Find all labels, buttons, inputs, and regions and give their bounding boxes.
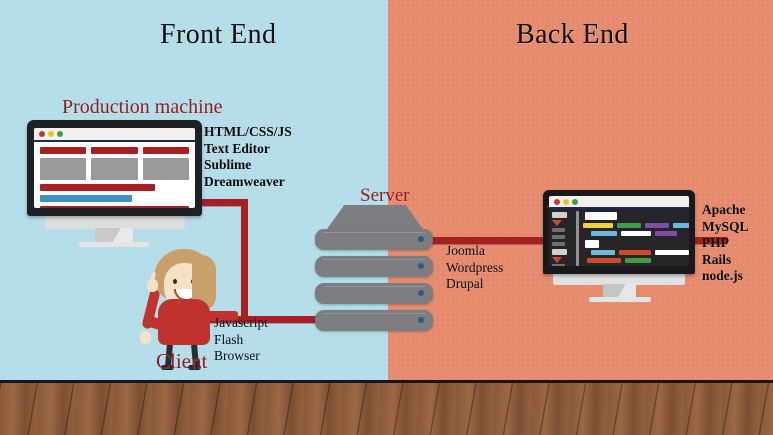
wooden-floor xyxy=(0,380,773,435)
monitor-back-bezel xyxy=(543,190,695,274)
front-end-tech-item: Text Editor xyxy=(204,141,292,158)
server-led-icon xyxy=(418,236,424,242)
cable-monitor-to-server-vertical xyxy=(241,199,248,323)
server-unit xyxy=(315,283,433,304)
server-cms-item: Joomla xyxy=(446,243,503,260)
back-end-tech-item: Rails xyxy=(702,252,749,269)
client-tech-item: Flash xyxy=(214,332,268,349)
back-end-tech-item: Apache xyxy=(702,202,749,219)
monitor-back-screen xyxy=(549,196,689,266)
monitor-front-screen xyxy=(34,128,195,208)
editor-code-area xyxy=(573,209,687,266)
webpage-wireframe xyxy=(34,142,195,208)
monitor-front-foot xyxy=(79,242,149,247)
front-end-tech-item: Sublime xyxy=(204,157,292,174)
wireframe-text-row-3 xyxy=(40,206,189,208)
front-end-tech-item: Dreamweaver xyxy=(204,174,292,191)
window-maximize-dot-icon xyxy=(57,131,63,137)
server-led-icon xyxy=(418,290,424,296)
window-minimize-dot-icon xyxy=(563,199,569,205)
monitor-back-foot xyxy=(589,297,651,302)
front-end-tech-list: HTML/CSS/JS Text Editor Sublime Dreamwea… xyxy=(204,124,292,190)
window-minimize-dot-icon xyxy=(48,131,54,137)
window-close-dot-icon xyxy=(39,131,45,137)
back-end-tech-item: PHP xyxy=(702,235,749,252)
editor-file-tree xyxy=(549,209,569,266)
server-led-icon xyxy=(418,263,424,269)
back-end-tech-item: MySQL xyxy=(702,219,749,236)
server-rack xyxy=(315,205,435,325)
server-unit xyxy=(315,229,433,250)
client-tech-item: Browser xyxy=(214,348,268,365)
back-end-tech-list: Apache MySQL PHP Rails node.js xyxy=(702,202,749,285)
monitor-back-neck xyxy=(603,284,636,298)
window-close-dot-icon xyxy=(554,199,560,205)
client-label: Client xyxy=(156,349,207,374)
back-end-title: Back End xyxy=(516,19,629,51)
client-tech-list: Javascript Flash Browser xyxy=(214,315,268,365)
server-cms-list: Joomla Wordpress Drupal xyxy=(446,243,503,293)
server-top-cover xyxy=(327,205,423,229)
client-left-eye xyxy=(173,279,177,284)
window-maximize-dot-icon xyxy=(572,199,578,205)
wireframe-content-row xyxy=(40,158,189,180)
front-end-tech-item: HTML/CSS/JS xyxy=(204,124,292,141)
wireframe-text-row-2 xyxy=(40,195,189,202)
code-tag-open-icon xyxy=(585,212,617,220)
server-led-icon xyxy=(418,317,424,323)
back-end-tech-item: node.js xyxy=(702,268,749,285)
wireframe-nav-row xyxy=(40,147,189,154)
code-tag-close-icon xyxy=(585,240,599,248)
server-cms-item: Wordpress xyxy=(446,260,503,277)
server-unit xyxy=(315,310,433,331)
client-tech-item: Javascript xyxy=(214,315,268,332)
monitor-front-bezel xyxy=(27,120,202,216)
diagram-canvas: Front End Back End Production machine xyxy=(0,0,773,435)
server-cms-item: Drupal xyxy=(446,276,503,293)
production-machine-label: Production machine xyxy=(62,96,223,119)
back-end-monitor xyxy=(543,190,695,300)
front-end-title: Front End xyxy=(160,19,276,51)
wireframe-text-row-1 xyxy=(40,184,189,191)
editor-chrome-bar xyxy=(549,196,689,209)
server-unit xyxy=(315,256,433,277)
server-label: Server xyxy=(360,185,410,207)
client-lowered-hand xyxy=(140,331,151,344)
production-machine-monitor xyxy=(27,120,202,245)
browser-chrome-bar xyxy=(34,128,195,142)
